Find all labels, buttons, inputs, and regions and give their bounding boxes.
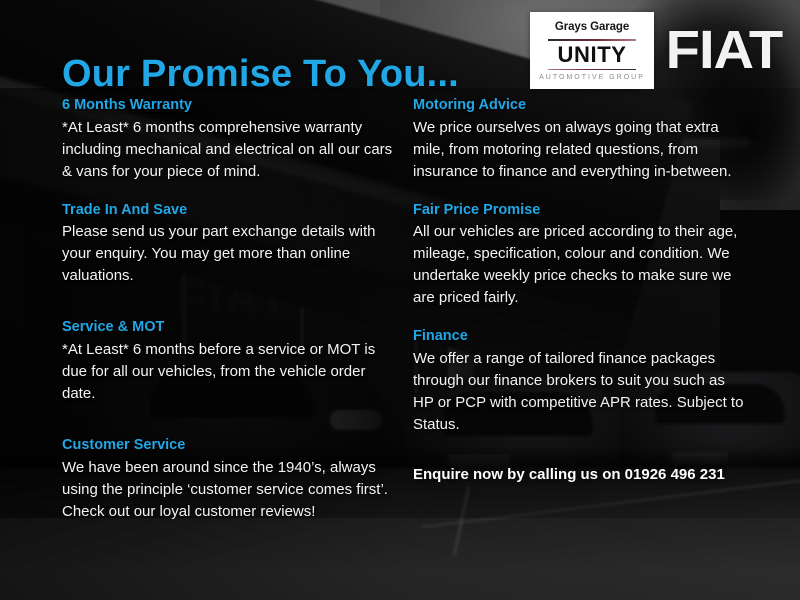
promise-heading: Trade In And Save xyxy=(62,201,420,221)
promise-heading: 6 Months Warranty xyxy=(62,96,420,116)
promotional-banner: FIAT Our Promise To You... Grays Garage … xyxy=(0,0,800,600)
page-title: Our Promise To You... xyxy=(62,53,459,96)
promise-column-left: 6 Months Warranty *At Least* 6 months co… xyxy=(62,96,420,541)
logo-lockup: Grays Garage UNITY AUTOMOTIVE GROUP FIAT xyxy=(530,12,784,89)
promise-body: Please send us your part exchange detail… xyxy=(62,221,394,287)
promise-heading: Finance xyxy=(413,327,771,347)
promise-body: We have been around since the 1940’s, al… xyxy=(62,457,394,523)
promise-heading: Service & MOT xyxy=(62,318,420,338)
unity-logo-rule-bottom xyxy=(548,69,636,71)
unity-automotive-group-logo: Grays Garage UNITY AUTOMOTIVE GROUP xyxy=(530,12,654,89)
promise-heading: Customer Service xyxy=(62,436,420,456)
unity-logo-top-line: Grays Garage xyxy=(555,21,629,34)
promise-block-motoring-advice: Motoring Advice We price ourselves on al… xyxy=(413,96,771,183)
promise-heading: Fair Price Promise xyxy=(413,201,771,221)
promise-body: We offer a range of tailored finance pac… xyxy=(413,348,745,436)
promise-body: We price ourselves on always going that … xyxy=(413,117,745,183)
spacer xyxy=(62,305,420,318)
fiat-logo: FIAT xyxy=(666,26,787,76)
unity-logo-sub-line: AUTOMOTIVE GROUP xyxy=(539,74,645,81)
promise-block-service-mot: Service & MOT *At Least* 6 months before… xyxy=(62,318,420,405)
promise-block-finance: Finance We offer a range of tailored fin… xyxy=(413,327,771,436)
promise-column-right: Motoring Advice We price ourselves on al… xyxy=(413,96,771,541)
unity-logo-wordmark: UNITY xyxy=(558,44,627,66)
promise-block-customer-service: Customer Service We have been around sin… xyxy=(62,436,420,523)
promise-body: *At Least* 6 months comprehensive warran… xyxy=(62,117,394,183)
promise-block-warranty: 6 Months Warranty *At Least* 6 months co… xyxy=(62,96,420,183)
promise-heading: Motoring Advice xyxy=(413,96,771,116)
promise-body: *At Least* 6 months before a service or … xyxy=(62,339,394,405)
spacer xyxy=(62,423,420,436)
promise-block-trade-in: Trade In And Save Please send us your pa… xyxy=(62,201,420,288)
promise-block-fair-price: Fair Price Promise All our vehicles are … xyxy=(413,201,771,310)
banner-content: Our Promise To You... Grays Garage UNITY… xyxy=(0,0,800,600)
call-to-action-phone[interactable]: Enquire now by calling us on 01926 496 2… xyxy=(413,464,771,485)
promise-body: All our vehicles are priced according to… xyxy=(413,221,745,309)
unity-logo-rule-top xyxy=(548,39,636,41)
promise-columns: 6 Months Warranty *At Least* 6 months co… xyxy=(0,96,800,541)
